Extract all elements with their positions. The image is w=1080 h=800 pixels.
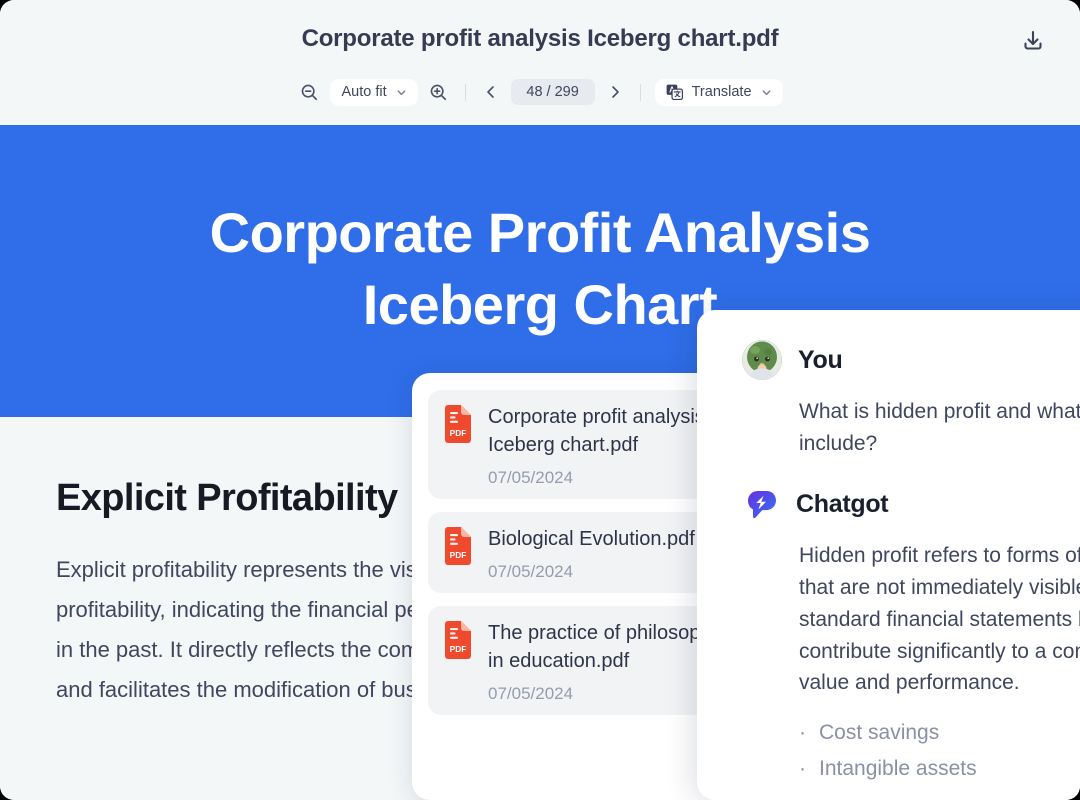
chevron-left-icon xyxy=(484,85,498,99)
bullet-label: Cost savings xyxy=(819,717,939,749)
chatgot-logo-icon xyxy=(742,486,780,524)
previous-page-button[interactable] xyxy=(480,80,502,104)
zoom-in-icon xyxy=(429,83,448,102)
chat-text-line: Hidden profit refers to forms of corpora… xyxy=(799,540,1080,572)
chatgot-logo-icon xyxy=(742,486,780,524)
chat-text-line: What is hidden profit and what does it xyxy=(799,396,1080,428)
hero-title-line-1: Corporate Profit Analysis xyxy=(0,197,1080,269)
zoom-in-button[interactable] xyxy=(427,80,451,104)
list-item: · Intangible assets xyxy=(799,753,1080,785)
chevron-down-icon xyxy=(761,87,772,98)
fit-mode-label: Auto fit xyxy=(341,84,386,100)
svg-text:PDF: PDF xyxy=(450,428,467,438)
header-bar: Corporate profit analysis Iceberg chart.… xyxy=(0,0,1080,125)
chat-panel: You What is hidden profit and what does … xyxy=(697,310,1080,800)
chat-text-line: that are not immediately visible through xyxy=(799,572,1080,604)
toolbar-divider xyxy=(640,84,641,101)
app-window: Corporate profit analysis Iceberg chart.… xyxy=(0,0,1080,800)
pdf-file-icon: PDF xyxy=(442,621,474,659)
list-item: · Cost savings xyxy=(799,717,1080,749)
page-title: Corporate profit analysis Iceberg chart.… xyxy=(0,25,1080,53)
fit-mode-dropdown[interactable]: Auto fit xyxy=(330,79,417,106)
svg-text:PDF: PDF xyxy=(450,644,467,654)
toolbar-divider xyxy=(465,84,466,101)
chat-text-line: value and performance. xyxy=(799,667,1080,699)
chat-text-line: contribute significantly to a company's … xyxy=(799,636,1080,668)
translate-label: Translate xyxy=(692,84,752,100)
download-button[interactable] xyxy=(1016,24,1050,58)
chat-message-assistant: Chatgot Hidden profit refers to forms of… xyxy=(742,486,1080,785)
zoom-out-button[interactable] xyxy=(297,80,321,104)
bullet-dot-icon: · xyxy=(799,753,806,785)
chat-message-text: Hidden profit refers to forms of corpora… xyxy=(742,540,1080,700)
chat-author-name: You xyxy=(798,346,842,375)
chat-author-name: Chatgot xyxy=(796,490,888,519)
page-indicator-label: 48 / 299 xyxy=(526,84,578,100)
pdf-toolbar: Auto fit 48 / 299 xyxy=(0,78,1080,106)
chat-bullet-list: · Cost savings · Intangible assets xyxy=(742,717,1080,785)
chat-message-header: Chatgot xyxy=(742,486,1080,524)
avatar xyxy=(742,340,782,380)
bullet-dot-icon: · xyxy=(799,717,806,749)
bullet-label: Intangible assets xyxy=(819,753,977,785)
pdf-file-icon: PDF xyxy=(442,527,474,565)
next-page-button[interactable] xyxy=(604,80,626,104)
pdf-file-icon: PDF xyxy=(442,405,474,443)
chat-message-text: What is hidden profit and what does it i… xyxy=(742,396,1080,460)
svg-text:PDF: PDF xyxy=(450,550,467,560)
translate-dropdown[interactable]: A Translate xyxy=(655,79,783,106)
download-icon xyxy=(1021,29,1045,53)
chevron-right-icon xyxy=(608,85,622,99)
chat-text-line: standard financial statements but which xyxy=(799,604,1080,636)
chevron-down-icon xyxy=(396,87,407,98)
chat-message-user: You What is hidden profit and what does … xyxy=(742,340,1080,460)
chat-text-line: include? xyxy=(799,428,1080,460)
user-avatar xyxy=(742,340,782,380)
chat-message-header: You xyxy=(742,340,1080,380)
zoom-out-icon xyxy=(300,83,319,102)
page-indicator[interactable]: 48 / 299 xyxy=(511,79,595,105)
translate-icon: A xyxy=(666,84,683,100)
